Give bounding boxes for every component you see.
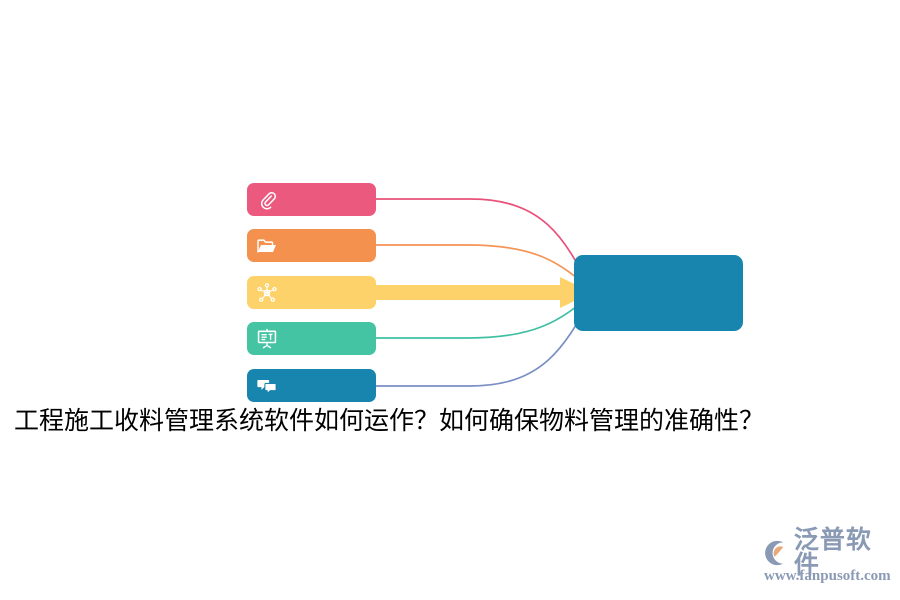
fanpu-logo-icon	[762, 538, 791, 568]
source-bar-5[interactable]	[247, 369, 376, 402]
connector-curve-4	[376, 294, 592, 338]
screenshot-root: 工程施工收料管理系统软件如何运作？如何确保物料管理的准确性？ 泛普软件 www.…	[0, 0, 900, 600]
connector-arrow-3	[370, 277, 592, 308]
presentation-board-icon	[256, 328, 278, 350]
connector-curve-5	[376, 295, 593, 386]
hub-box[interactable]	[574, 255, 743, 331]
watermark-url: www.fanpusoft.com	[764, 569, 891, 584]
folder-open-icon	[256, 235, 278, 257]
hub-box-label	[574, 255, 743, 331]
chat-bubbles-icon	[256, 375, 278, 397]
source-bar-1[interactable]	[247, 183, 376, 216]
watermark-brand-row: 泛普软件	[762, 536, 894, 570]
diagram-container	[0, 0, 900, 420]
source-bar-4[interactable]	[247, 322, 376, 355]
source-bar-2[interactable]	[247, 229, 376, 262]
page-caption: 工程施工收料管理系统软件如何运作？如何确保物料管理的准确性？	[14, 406, 894, 437]
watermark: 泛普软件 www.fanpusoft.com	[762, 536, 894, 588]
paperclip-icon	[256, 189, 278, 211]
source-bar-3[interactable]	[247, 276, 376, 309]
diagram-connectors	[0, 0, 900, 420]
network-hub-icon	[256, 282, 278, 304]
connector-curve-2	[376, 245, 592, 291]
